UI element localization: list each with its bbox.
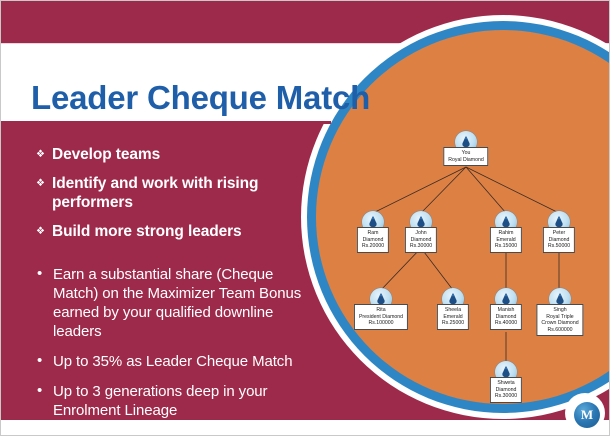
org-node-amount: Rs.15000	[495, 243, 517, 250]
bullet-list-secondary: • Earn a substantial share (Cheque Match…	[35, 265, 311, 431]
org-node-rank: Diamond	[548, 237, 570, 244]
org-node-card: Rita President Diamond Rs.100000	[354, 304, 408, 330]
bullet-list-primary: ❖ Develop teams ❖ Identify and work with…	[35, 145, 311, 250]
brand-logo: M	[565, 393, 605, 433]
title-underline-bar	[1, 121, 331, 124]
org-node-amount: Rs.100000	[359, 320, 403, 327]
logo-letter: M	[574, 402, 600, 428]
org-node-name: Shweta	[495, 380, 517, 387]
org-node-name: Rahim	[495, 230, 517, 237]
org-node-card: Singh Royal Triple Crown Diamond Rs.6000…	[536, 304, 583, 336]
org-node-rank: Diamond	[410, 237, 432, 244]
diamond-bullet-icon: ❖	[35, 174, 52, 193]
org-node-name: Singh	[541, 307, 578, 314]
org-node-card: Shweta Diamond Rs.30000	[490, 377, 522, 403]
list-item: ❖ Identify and work with rising performe…	[35, 174, 311, 213]
org-node-rank: Emerald	[495, 237, 517, 244]
org-node-card: Peter Diamond Rs.50000	[543, 227, 575, 253]
footer-copyright: © Modicare Limited 2011 :: www.modicare.…	[1, 421, 610, 427]
diamond-bullet-icon: ❖	[35, 222, 52, 241]
list-item-label: Identify and work with rising performers	[52, 174, 311, 213]
org-node-rank: President Diamond	[359, 314, 403, 321]
org-node-amount: Rs.20000	[362, 243, 384, 250]
org-node-card: John Diamond Rs.30000	[405, 227, 437, 253]
org-node-name: John	[410, 230, 432, 237]
list-item: ❖ Develop teams	[35, 145, 311, 165]
list-item-label: Up to 35% as Leader Cheque Match	[53, 352, 292, 371]
org-node-amount: Rs.600000	[541, 327, 578, 334]
list-item: • Up to 3 generations deep in your Enrol…	[35, 382, 311, 420]
dot-bullet-icon: •	[35, 265, 53, 283]
org-node-amount: Rs.30000	[495, 393, 517, 400]
org-node-card: Manish Diamond Rs.40000	[490, 304, 522, 330]
org-node-name: You	[448, 150, 483, 157]
list-item-label: Earn a substantial share (Cheque Match) …	[53, 265, 311, 341]
list-item: • Up to 35% as Leader Cheque Match	[35, 352, 311, 371]
org-node-card: Rahim Emerald Rs.15000	[490, 227, 522, 253]
org-node-amount: Rs.25000	[442, 320, 464, 327]
list-item: • Earn a substantial share (Cheque Match…	[35, 265, 311, 341]
list-item-label: Up to 3 generations deep in your Enrolme…	[53, 382, 311, 420]
list-item-label: Build more strong leaders	[52, 222, 242, 242]
org-node-rank: Diamond	[495, 314, 517, 321]
logo-coin-icon: M	[574, 402, 600, 428]
org-node-amount: Rs.40000	[495, 320, 517, 327]
diamond-bullet-icon: ❖	[35, 145, 52, 164]
org-node-rank: Diamond	[495, 387, 517, 394]
org-node-amount: Rs.30000	[410, 243, 432, 250]
list-item: ❖ Build more strong leaders	[35, 222, 311, 242]
org-node-name: Ram	[362, 230, 384, 237]
org-node-amount: Rs.50000	[548, 243, 570, 250]
list-item-label: Develop teams	[52, 145, 160, 165]
org-node-card: Ram Diamond Rs.20000	[357, 227, 389, 253]
page-title: Leader Cheque Match	[31, 79, 370, 117]
org-node-rank: Diamond	[362, 237, 384, 244]
org-node-name: Sheela	[442, 307, 464, 314]
dot-bullet-icon: •	[35, 382, 53, 400]
org-node-card: You Royal Diamond	[443, 147, 488, 166]
org-node-name: Peter	[548, 230, 570, 237]
org-node-rank: Royal Diamond	[448, 157, 483, 164]
org-node-name: Rita	[359, 307, 403, 314]
dot-bullet-icon: •	[35, 352, 53, 370]
org-node-card: Sheela Emerald Rs.25000	[437, 304, 469, 330]
org-node-name: Manish	[495, 307, 517, 314]
org-node-rank: Emerald	[442, 314, 464, 321]
slide-canvas: Cheque Bonus Leader Cheque Match ❖ Devel…	[0, 0, 610, 436]
org-node-rank: Royal Triple Crown Diamond	[541, 314, 578, 327]
